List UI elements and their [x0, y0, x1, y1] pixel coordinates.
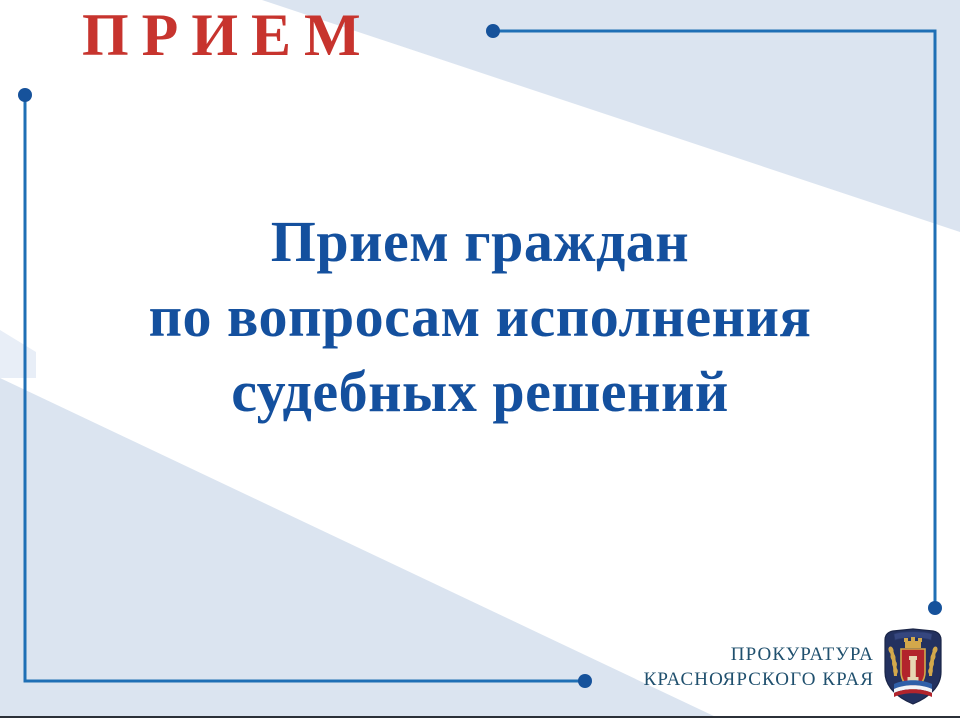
page-title: Прием граждан по вопросам исполнения суд… [40, 205, 920, 429]
headline-line-1: Прием граждан [40, 205, 920, 280]
organization-line-2: КРАСНОЯРСКОГО КРАЯ [644, 667, 874, 692]
prosecutor-emblem-icon [882, 628, 944, 706]
emblem-crown [904, 637, 922, 648]
kicker-title: ПРИЕМ [82, 2, 374, 69]
organization-line-1: ПРОКУРАТУРА [644, 642, 874, 667]
organization-name: ПРОКУРАТУРА КРАСНОЯРСКОГО КРАЯ [644, 642, 874, 693]
headline-line-2: по вопросам исполнения [40, 280, 920, 355]
organization-logo: ПРОКУРАТУРА КРАСНОЯРСКОГО КРАЯ [644, 628, 944, 706]
headline-line-3: судебных решений [40, 355, 920, 430]
presentation-slide: ПРИЕМ Прием граждан по вопросам исполнен… [0, 0, 960, 718]
